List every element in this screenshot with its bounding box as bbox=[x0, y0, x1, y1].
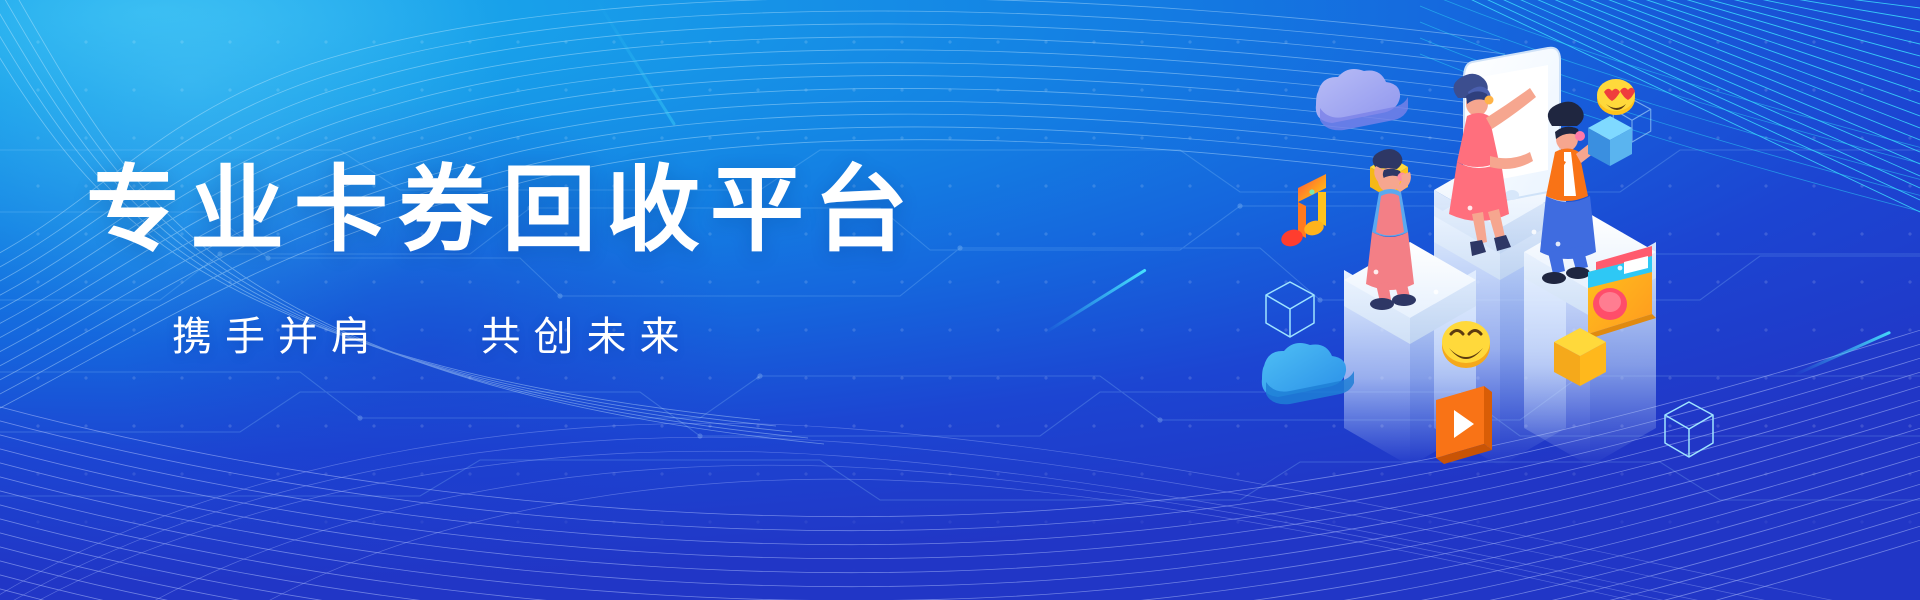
emoji-heart-eyes bbox=[1597, 79, 1635, 115]
play-button-icon bbox=[1436, 386, 1492, 464]
page-subtitle: 携手并肩 共创未来 bbox=[172, 304, 986, 362]
promo-banner: 专业卡券回收平台 携手并肩 共创未来 bbox=[0, 0, 1920, 600]
cube-blue bbox=[1588, 116, 1632, 166]
music-note-icon bbox=[1279, 174, 1326, 249]
banner-copy: 专业卡券回收平台 携手并肩 共创未来 bbox=[86, 160, 986, 362]
cyan-spark-line bbox=[594, 0, 676, 126]
page-title: 专业卡券回收平台 bbox=[86, 160, 986, 260]
cloud-icon-light-purple bbox=[1316, 69, 1408, 130]
isometric-platform-scene bbox=[1258, 46, 1678, 466]
cyan-spark-line bbox=[1043, 268, 1146, 334]
cyan-spark-line bbox=[1794, 331, 1891, 376]
emoji-laughing bbox=[1442, 321, 1490, 368]
person-holding-yellow-cube bbox=[1366, 149, 1416, 310]
cloud-icon-blue bbox=[1262, 343, 1354, 404]
